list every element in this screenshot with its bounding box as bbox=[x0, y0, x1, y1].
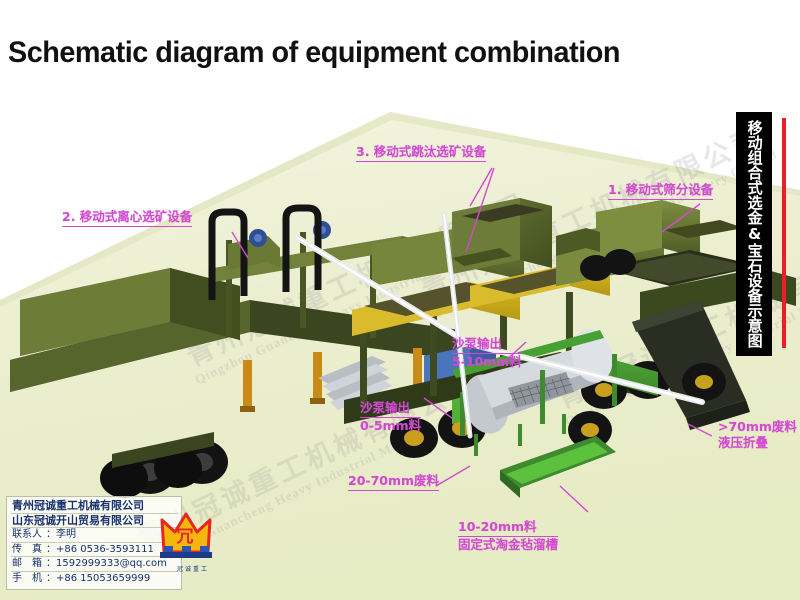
company-mobile-row: 手 机：+86 15053659999 bbox=[11, 572, 178, 586]
callout-pump-0-5-line1: 沙泵输出 bbox=[360, 400, 421, 418]
contact-value: ：李明 bbox=[46, 529, 76, 540]
vertical-banner: 移动组合式选金&宝石设备示意图 bbox=[736, 112, 772, 356]
company-name-line-2: 山东冠诚开山贸易有限公司 bbox=[11, 514, 178, 529]
company-info-box: 青州冠诚重工机械有限公司 山东冠诚开山贸易有限公司 联系人：李明 传 真：+86… bbox=[6, 496, 182, 590]
mobile-value: ：+86 15053659999 bbox=[46, 573, 150, 584]
callout-pump-0-5-line2: 0-5mm料 bbox=[360, 418, 421, 434]
fax-value: ：+86 0536-3593111 bbox=[46, 544, 154, 555]
fax-label: 传 真 bbox=[12, 543, 46, 557]
schematic-diagram-page: 青州冠诚重工机械有限公司 Qingzhou Guancheng Heavy In… bbox=[0, 0, 800, 600]
callout-waste-70-line2: 液压折叠 bbox=[718, 435, 797, 451]
callout-label-pump-0-5: 沙泵输出 0-5mm料 bbox=[360, 400, 421, 433]
callout-label-waste-70: >70mm废料 液压折叠 bbox=[718, 419, 797, 450]
gold-sluice-box bbox=[500, 436, 616, 498]
vertical-banner-text: 移动组合式选金&宝石设备示意图 bbox=[746, 120, 761, 348]
company-name-line-1: 青州冠诚重工机械有限公司 bbox=[11, 499, 178, 514]
callout-label-3: 3. 移动式跳汰选矿设备 bbox=[356, 144, 486, 162]
callout-label-1: 1. 移动式筛分设备 bbox=[608, 182, 713, 200]
company-email-row: 邮 箱：1592999333@qq.com bbox=[11, 557, 178, 572]
page-title: Schematic diagram of equipment combinati… bbox=[8, 36, 620, 70]
mobile-label: 手 机 bbox=[12, 572, 46, 586]
contact-label: 联系人 bbox=[12, 528, 46, 542]
callout-sluice-line1: 10-20mm料 bbox=[458, 519, 558, 537]
callout-sluice-line2: 固定式淘金毡溜槽 bbox=[458, 537, 558, 553]
email-value: ：1592999333@qq.com bbox=[46, 558, 167, 569]
company-fax-row: 传 真：+86 0536-3593111 bbox=[11, 543, 178, 558]
crown-icon: 冗 bbox=[158, 508, 228, 568]
callout-label-pump-5-10: 沙泵输出 5-10mm料 bbox=[452, 336, 522, 369]
callout-label-waste-20-70: 20-70mm废料 bbox=[348, 473, 439, 491]
banner-red-accent-bar bbox=[782, 118, 786, 348]
company-logo: 冗 冠诚重工 bbox=[158, 508, 228, 574]
svg-text:冗: 冗 bbox=[177, 527, 194, 547]
callout-label-2: 2. 移动式离心选矿设备 bbox=[62, 209, 192, 227]
callout-pump-5-10-line2: 5-10mm料 bbox=[452, 354, 522, 370]
email-label: 邮 箱 bbox=[12, 557, 46, 571]
callout-label-sluice-10-20: 10-20mm料 固定式淘金毡溜槽 bbox=[458, 519, 558, 552]
company-contact-row: 联系人：李明 bbox=[11, 528, 178, 543]
logo-caption: 冠诚重工 bbox=[158, 564, 228, 573]
callout-waste-70-line1: >70mm废料 bbox=[718, 419, 797, 435]
callout-pump-5-10-line1: 沙泵输出 bbox=[452, 336, 522, 354]
